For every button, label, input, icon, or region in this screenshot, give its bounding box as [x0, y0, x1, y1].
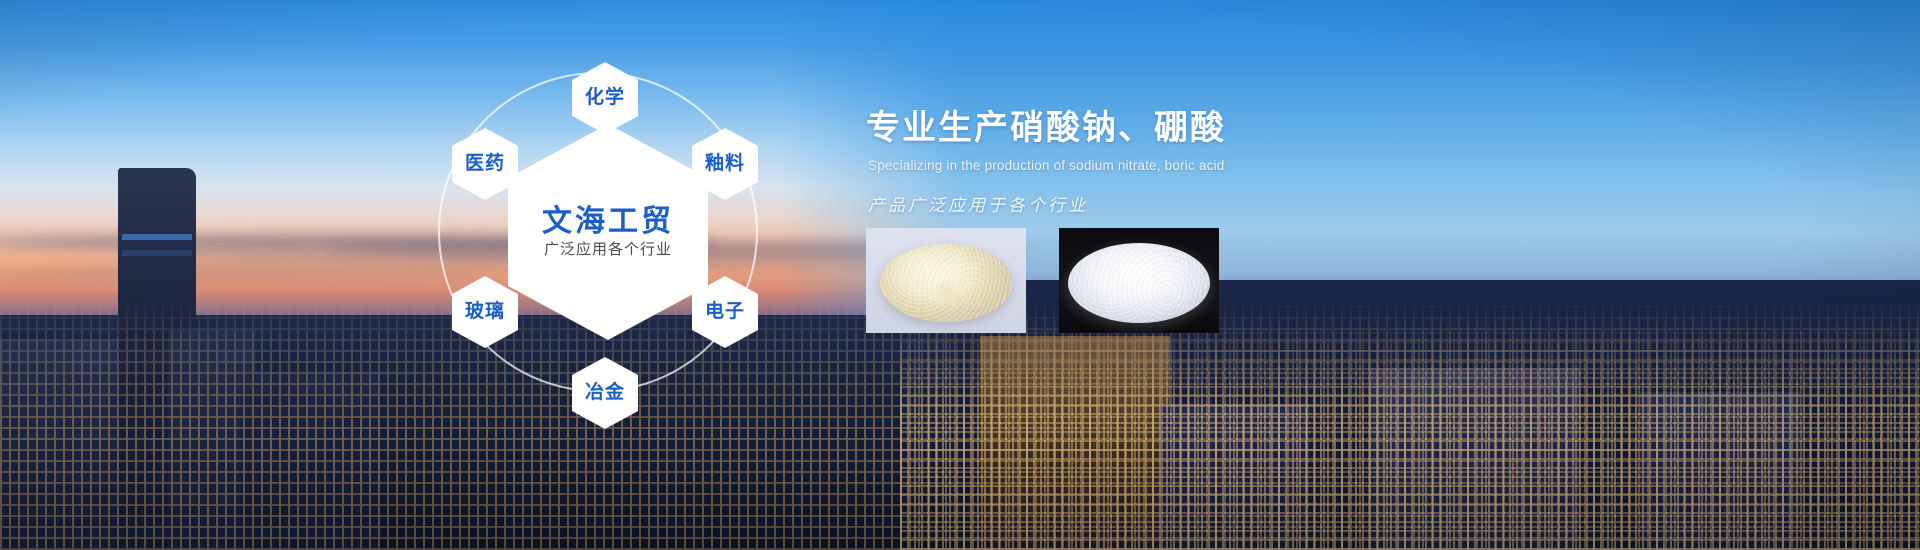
hero-banner: 化学 釉料 电子 冶金 玻璃 医药 文海工贸 广泛应用各个行业 专业生产硝酸钠、…	[0, 0, 1920, 550]
hex-medicine-label: 医药	[465, 154, 505, 174]
headline-block: 专业生产硝酸钠、硼酸 Specializing in the productio…	[866, 100, 1426, 216]
powder-grain-texture	[880, 244, 1012, 322]
powder-pile-white	[1068, 243, 1210, 323]
product-photo-row	[866, 228, 1219, 333]
hexagon-ring-graphic: 化学 釉料 电子 冶金 玻璃 医药 文海工贸 广泛应用各个行业	[430, 20, 810, 440]
company-name: 文海工贸	[542, 206, 674, 238]
product-photo-sodium-nitrate	[866, 228, 1026, 333]
hex-electronics-label: 电子	[705, 302, 745, 322]
headline-tagline: 产品广泛应用于各个行业	[868, 191, 1426, 216]
powder-grain-texture	[1068, 243, 1210, 323]
headline-english: Specializing in the production of sodium…	[868, 158, 1426, 173]
product-photo-boric-acid	[1059, 228, 1219, 333]
hex-glaze-label: 釉料	[705, 154, 745, 174]
hex-glass-label: 玻璃	[465, 302, 505, 322]
hex-chemical-label: 化学	[585, 88, 625, 108]
company-tagline: 广泛应用各个行业	[544, 242, 672, 258]
hex-metallurgy-label: 冶金	[585, 383, 625, 403]
powder-pile-cream	[880, 244, 1012, 322]
headline-chinese: 专业生产硝酸钠、硼酸	[866, 100, 1426, 149]
